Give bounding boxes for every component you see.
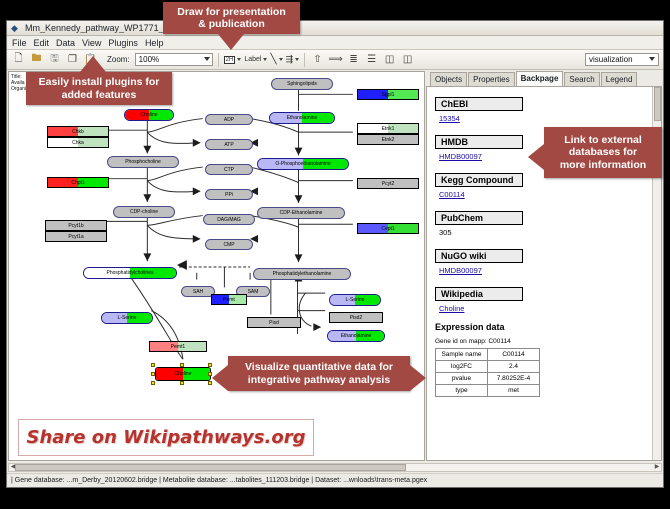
- distribute-vertical-icon[interactable]: ≣: [346, 52, 361, 67]
- node-label: O-Phosphoethanolamine: [275, 161, 330, 167]
- expression-table: Sample name C00114 log2FC 2.4 pvalue 7.8…: [435, 348, 540, 397]
- pathway-canvas[interactable]: Title: Availa Organi: [8, 71, 425, 461]
- menu-item-plugins[interactable]: Plugins: [108, 38, 138, 48]
- visualization-select[interactable]: visualization: [585, 53, 659, 66]
- callout-links-line2: databases for: [569, 146, 637, 159]
- zoom-select[interactable]: 100%: [135, 53, 213, 66]
- toolbar-separator: [304, 53, 305, 67]
- gene-id-line: Gene id on mapp: C00114: [435, 338, 661, 345]
- gene-node[interactable]: Pisd2: [329, 312, 383, 323]
- node-label: Pemt: [223, 297, 235, 303]
- visualization-value: visualization: [589, 55, 633, 64]
- node-label: L-Serine: [118, 315, 137, 321]
- copy-icon[interactable]: ❐: [65, 52, 80, 67]
- metabolite-node[interactable]: Ethanolamine: [327, 330, 385, 342]
- stack-icon[interactable]: ◫: [382, 52, 397, 67]
- callout-plugins: Easily install plugins for added feature…: [26, 72, 172, 105]
- callout-draw-line2: & publication: [198, 18, 265, 31]
- chevron-down-icon: [263, 58, 267, 61]
- share-banner: Share on Wikipathways.org: [18, 419, 314, 456]
- metabolite-node[interactable]: DAG/MAG: [203, 214, 255, 225]
- section-header-kegg: Kegg Compound: [435, 173, 523, 187]
- callout-links-line1: Link to external: [564, 134, 642, 147]
- metabolite-node[interactable]: Ethanolamine: [269, 112, 335, 124]
- node-label: Sphingolipids: [287, 81, 317, 87]
- statusbar-text: | Gene database: ...m_Derby_20120602.bri…: [11, 477, 427, 484]
- node-label: Etnk2: [382, 137, 395, 143]
- resize-handle[interactable]: [151, 372, 155, 376]
- node-label: Pcyt1a: [68, 234, 83, 240]
- section-header-pubchem: PubChem: [435, 211, 523, 225]
- tab-properties[interactable]: Properties: [468, 72, 514, 86]
- node-label: Sgpl1: [382, 92, 395, 98]
- shape-tool-icon: ⇶: [286, 54, 294, 65]
- callout-visualize-line1: Visualize quantitative data for: [245, 361, 393, 374]
- row-value: 7.80252E-4: [488, 373, 540, 385]
- table-row: type met: [436, 385, 540, 397]
- statusbar: | Gene database: ...m_Derby_20120602.bri…: [7, 473, 663, 487]
- section-header-nugo: NuGO wiki: [435, 249, 523, 263]
- row-key: log2FC: [436, 361, 488, 373]
- row-value: C00114: [488, 349, 540, 361]
- menubar: File Edit Data View Plugins Help: [7, 36, 663, 50]
- node-label: Pisd: [269, 320, 279, 326]
- metabolite-node[interactable]: SAH: [181, 286, 215, 297]
- line-tool-icon: ╲: [270, 54, 276, 65]
- pathway-meta: Title: Availa Organi: [11, 74, 26, 92]
- callout-draw-arrow: [218, 34, 244, 50]
- label-tool-button[interactable]: Label: [244, 56, 267, 63]
- scrollbar-thumb[interactable]: [654, 87, 661, 121]
- node-label: PPi: [225, 192, 233, 198]
- kegg-link[interactable]: C00114: [439, 190, 661, 199]
- shape-tool-button[interactable]: ⇶: [286, 54, 300, 65]
- gene-node[interactable]: Etnk2: [357, 134, 419, 145]
- gene-node[interactable]: Sgpl1: [357, 89, 419, 100]
- table-row: log2FC 2.4: [436, 361, 540, 373]
- callout-draw-line1: Draw for presentation: [177, 6, 286, 19]
- callout-visualize-arrow-right: [410, 365, 426, 391]
- node-label: Pemt1: [171, 344, 185, 350]
- node-label: Chka: [72, 140, 84, 146]
- menu-item-help[interactable]: Help: [145, 38, 164, 48]
- gene-node[interactable]: Pemt: [211, 294, 247, 305]
- chevron-down-icon: [237, 58, 241, 61]
- callout-links: Link to external databases for more info…: [544, 127, 662, 178]
- chevron-down-icon: [649, 57, 655, 61]
- node-label: Chkb: [72, 129, 84, 135]
- table-row: Sample name C00114: [436, 349, 540, 361]
- node-label: CTP: [224, 167, 234, 173]
- metabolite-node[interactable]: Choline: [124, 109, 174, 121]
- metabolite-node[interactable]: Sphingolipids: [271, 78, 333, 90]
- meta-organism-label: Organi: [11, 86, 26, 92]
- save-icon[interactable]: 🖫: [47, 52, 62, 67]
- share-banner-text: Share on Wikipathways.org: [27, 427, 306, 448]
- metabolite-node[interactable]: ATP: [205, 139, 253, 150]
- node-label: Choline: [141, 112, 158, 118]
- node-label: ADP: [224, 117, 234, 123]
- gene-node[interactable]: Pemt1: [149, 341, 207, 352]
- side-panel-tabs: Objects Properties Backpage Search Legen…: [426, 71, 662, 86]
- node-label: CDP-Ethanolamine: [280, 210, 323, 216]
- metabolite-node[interactable]: L-Serine: [101, 312, 153, 324]
- scrollbar-thumb[interactable]: [15, 464, 406, 471]
- metabolite-node[interactable]: CDP-Ethanolamine: [257, 207, 345, 219]
- line-tool-button[interactable]: ╲: [270, 54, 282, 65]
- gene-node[interactable]: Pcyt2: [357, 178, 419, 189]
- resize-handle[interactable]: [151, 363, 155, 367]
- callout-plugins-line2: added features: [62, 89, 137, 102]
- menu-item-file[interactable]: File: [12, 38, 27, 48]
- menu-item-edit[interactable]: Edit: [34, 38, 50, 48]
- align-left-icon[interactable]: ⟹: [328, 52, 343, 67]
- node-label: Choline: [175, 371, 192, 377]
- row-value: met: [488, 385, 540, 397]
- text-tool-button[interactable]: 2H: [224, 56, 242, 64]
- node-label: L-Serine: [346, 297, 365, 303]
- section-header-hmdb: HMDB: [435, 135, 523, 149]
- gene-node[interactable]: Chka: [47, 137, 109, 148]
- row-key: type: [436, 385, 488, 397]
- open-folder-icon[interactable]: 🖿: [29, 52, 44, 67]
- table-row: pvalue 7.80252E-4: [436, 373, 540, 385]
- node-label: Ethanolamine: [287, 115, 318, 121]
- chevron-down-icon: [295, 58, 299, 61]
- zoom-value: 100%: [139, 55, 159, 64]
- gene-node[interactable]: Pisd: [247, 317, 301, 328]
- gene-node[interactable]: Cept1: [357, 223, 419, 234]
- node-label: CDP-choline: [130, 209, 158, 215]
- section-header-chebi: ChEBI: [435, 97, 523, 111]
- metabolite-node[interactable]: CTP: [205, 164, 253, 175]
- tab-backpage[interactable]: Backpage: [516, 71, 564, 86]
- canvas-scrollbar-row: ◀ ▶: [7, 462, 663, 473]
- selected-metabolite-node[interactable]: Choline: [155, 367, 211, 381]
- section-header-wikipedia: Wikipedia: [435, 287, 523, 301]
- new-file-icon[interactable]: 🗋: [11, 52, 26, 67]
- toolbar-separator: [218, 53, 219, 67]
- node-label: Pcyt1b: [68, 223, 83, 229]
- wikipedia-link[interactable]: Choline: [439, 304, 661, 313]
- row-key: pvalue: [436, 373, 488, 385]
- node-label: Pcyt2: [382, 181, 395, 187]
- metabolite-node[interactable]: PPi: [205, 189, 253, 200]
- zoom-label: Zoom:: [107, 55, 130, 64]
- node-label: Chpt1: [71, 180, 84, 186]
- gene-node[interactable]: Pcyt1b: [45, 220, 107, 231]
- window-titlebar: ◆ Mm_Kennedy_pathway_WP1771_45176.gpml: [7, 21, 663, 36]
- tab-objects[interactable]: Objects: [430, 72, 467, 86]
- node-label: CMP: [223, 242, 234, 248]
- tab-search[interactable]: Search: [564, 72, 599, 86]
- menu-item-view[interactable]: View: [82, 38, 101, 48]
- resize-handle[interactable]: [151, 381, 155, 385]
- callout-draw: Draw for presentation & publication: [163, 2, 300, 34]
- node-label: DAG/MAG: [217, 217, 241, 223]
- distribute-horizontal-icon[interactable]: ☰: [364, 52, 379, 67]
- chebi-link[interactable]: 15354: [439, 114, 661, 123]
- chevron-down-icon: [279, 58, 283, 61]
- node-label: ATP: [224, 142, 233, 148]
- callout-visualize-line2: integrative pathway analysis: [248, 374, 390, 387]
- chevron-down-icon: [204, 57, 210, 61]
- group-icon[interactable]: ◫: [400, 52, 415, 67]
- tab-legend[interactable]: Legend: [601, 72, 638, 86]
- node-label: Ethanolamine: [341, 333, 372, 339]
- gene-node[interactable]: Pcyt1a: [45, 231, 107, 242]
- gene-node[interactable]: Etnk1: [357, 123, 419, 134]
- scroll-right-icon[interactable]: ▶: [653, 464, 661, 471]
- resize-handle[interactable]: [180, 381, 184, 385]
- metabolite-node[interactable]: CMP: [205, 239, 253, 250]
- metabolite-node[interactable]: ADP: [205, 114, 253, 125]
- expression-data-title: Expression data: [435, 322, 661, 332]
- nugo-link[interactable]: HMDB00097: [439, 266, 661, 275]
- row-value: 2.4: [488, 361, 540, 373]
- resize-handle[interactable]: [180, 363, 184, 367]
- metabolite-node[interactable]: CDP-choline: [113, 206, 175, 218]
- menu-item-data[interactable]: Data: [56, 38, 75, 48]
- metabolite-node[interactable]: O-Phosphoethanolamine: [257, 158, 349, 170]
- metabolite-node[interactable]: Phosphatidylcholines: [83, 267, 177, 279]
- node-label: Phosphatidylcholines: [107, 270, 154, 276]
- node-label: Etnk1: [382, 126, 395, 132]
- node-label: SAH: [193, 289, 203, 295]
- gene-node[interactable]: Chpt1: [47, 177, 109, 188]
- canvas-horizontal-scrollbar[interactable]: ◀ ▶: [8, 463, 662, 472]
- node-label: SAM: [248, 289, 259, 295]
- app-icon: ◆: [11, 23, 21, 33]
- callout-plugins-line1: Easily install plugins for: [39, 76, 160, 89]
- node-label: Phosphatidylethanolamine: [273, 271, 332, 277]
- callout-links-arrow: [528, 144, 544, 170]
- callout-visualize: Visualize quantitative data for integrat…: [228, 356, 410, 391]
- text-tool-label: 2H: [224, 56, 236, 64]
- metabolite-node[interactable]: L-Serine: [329, 294, 381, 306]
- align-center-icon[interactable]: ⇧: [310, 52, 325, 67]
- pubchem-value: 305: [439, 228, 661, 237]
- metabolite-node[interactable]: Phosphocholine: [107, 156, 179, 168]
- metabolite-node[interactable]: Phosphatidylethanolamine: [253, 268, 351, 280]
- node-label: Pisd2: [350, 315, 363, 321]
- node-label: Cept1: [381, 226, 394, 232]
- gene-node[interactable]: Chkb: [47, 126, 109, 137]
- callout-plugins-arrow: [80, 56, 106, 72]
- row-key: Sample name: [436, 349, 488, 361]
- callout-links-line3: more information: [560, 159, 646, 172]
- node-label: Phosphocholine: [125, 159, 161, 165]
- callout-visualize-arrow-left: [212, 365, 228, 391]
- label-tool-label: Label: [244, 56, 261, 63]
